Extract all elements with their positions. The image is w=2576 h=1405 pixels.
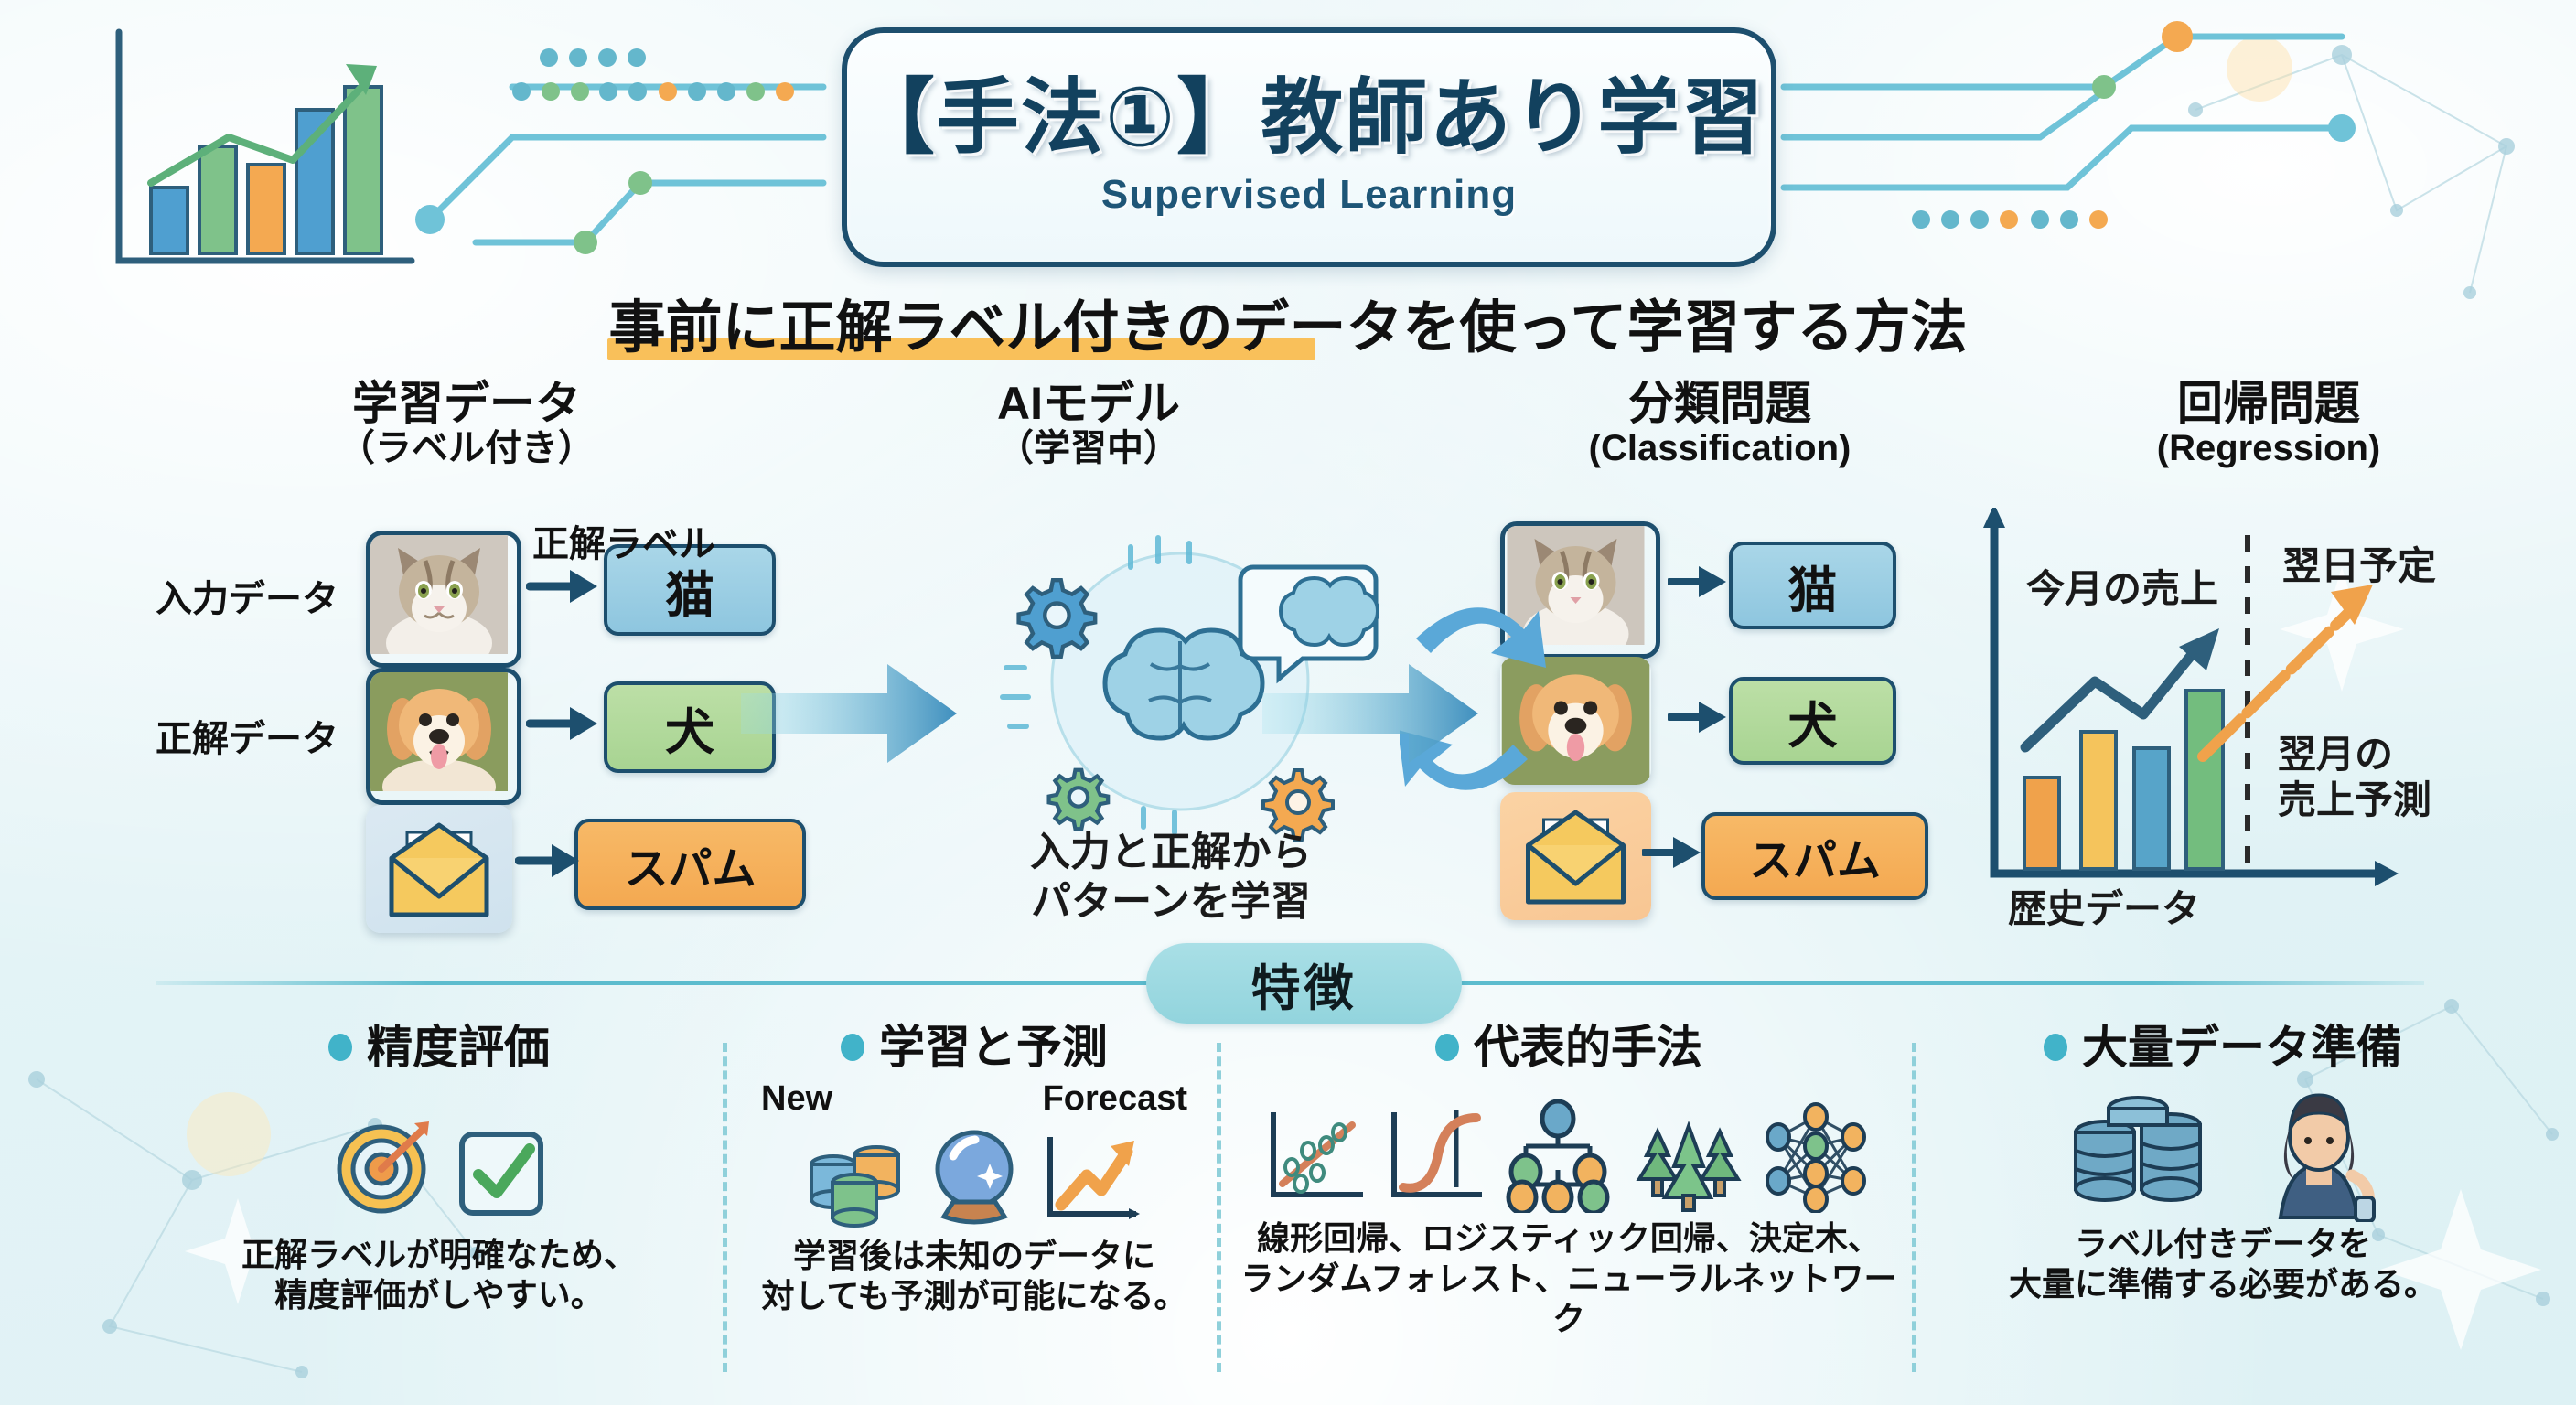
feature-divider-1 [723,1043,727,1372]
database-cylinders-icon [2065,1085,2229,1222]
feature-title: 代表的手法 [1474,1024,1702,1070]
training-label-spam: スパム [574,819,806,910]
regression-axis-label: 歴史データ [2008,878,2200,934]
column-title-line1: 分類問題 [1482,380,1958,428]
bullet-dot-icon [841,1034,864,1061]
arrow-model-to-output [1253,640,1491,787]
scatter-regression-icon [1261,1103,1370,1213]
feature-item-data-preparation: 大量データ準備 ラベル付きデータを 大量に準備する必要がある。 [1926,1024,2520,1304]
page-subtitle: Supervised Learning [1101,172,1517,218]
bar-1 [2024,778,2059,869]
tagline-text: 事前に正解ラベル付きのデータを使って学習する方法 [609,296,1968,359]
training-dog-photo [366,668,521,805]
gear-icon [1049,770,1109,830]
column-title-line2: (Classification) [1482,428,1958,468]
title-card: 【手法①】教師あり学習 Supervised Learning [842,27,1776,267]
bullet-dot-icon [328,1034,352,1061]
forecast-chart-icon [1037,1130,1147,1230]
arrow-dog-to-class [1668,692,1728,743]
bar-4 [2186,691,2223,869]
feature-icons [1926,1085,2520,1222]
feature-description: 線形回帰、ロジスティック回帰、決定木、 ランダムフォレスト、ニューラルネットワー… [1230,1218,1907,1339]
column-title-line2: （学習中） [851,428,1326,468]
bullet-dot-icon [2044,1034,2067,1061]
column-title-line1: 学習データ [229,380,704,428]
decision-tree-icon [1498,1099,1617,1213]
bar-2 [2081,732,2116,869]
training-cat-photo [366,531,521,668]
column-title-training-data: 学習データ （ラベル付き） [229,380,704,468]
feature-heading: 精度評価 [174,1024,704,1070]
model-caption-line2: パターンを学習 [915,877,1427,927]
random-forest-icon [1626,1099,1745,1213]
sublabel-new: New [761,1079,832,1119]
column-title-classification: 分類問題 (Classification) [1482,380,1958,468]
feature-icons [174,1085,704,1222]
arrow-mail-to-class [1642,827,1702,878]
feature-heading: 学習と予測 [741,1024,1207,1070]
regression-nextday-label: 翌日予定 [2282,535,2436,591]
feature-item-learning-prediction: 学習と予測 New Forecast 学習後は未知のデータに 対しても予測が可能… [741,1024,1207,1316]
arrow-dog-to-label [526,698,599,749]
correct-label-header: 正解ラベル [532,514,715,567]
column-title-line1: AIモデル [851,380,1326,428]
feature-description: ラベル付きデータを 大量に準備する必要がある。 [1926,1224,2520,1304]
feature-item-accuracy: 精度評価 正解ラベルが明確なため、 精度評価がしやすい。 [174,1024,704,1315]
feature-section-label: 特徴 [1251,948,1358,1020]
arrow-cat-to-class [1668,556,1728,607]
bullet-dot-icon [1435,1034,1459,1061]
column-title-line2: (Regression) [2031,428,2506,468]
arrow-mail-to-label [515,835,581,886]
regression-forecast-line2: 売上予測 [2278,778,2431,823]
classification-label-spam: スパム [1701,812,1928,900]
checkbox-check-icon [453,1123,552,1222]
arrow-cat-to-label [526,561,599,612]
header-bar-chart-icon [119,32,412,261]
feature-icons [1230,1085,1907,1213]
feature-description: 正解ラベルが明確なため、 精度評価がしやすい。 [174,1235,704,1315]
crystal-ball-icon [924,1125,1025,1230]
feature-title: 精度評価 [367,1024,550,1070]
column-title-line2: （ラベル付き） [229,428,704,468]
feature-heading: 代表的手法 [1230,1024,1907,1070]
column-title-ai-model: AIモデル （学習中） [851,380,1326,468]
sublabel-forecast: Forecast [1043,1079,1187,1119]
sigmoid-curve-icon [1379,1103,1489,1213]
database-stack-icon [801,1130,911,1230]
feature-item-methods: 代表的手法 [1230,1024,1907,1339]
bar-3 [2134,748,2169,869]
model-caption: 入力と正解から パターンを学習 [915,828,1427,926]
classification-label-cat: 猫 [1729,542,1896,629]
neural-network-icon [1755,1099,1878,1213]
feature-title: 大量データ準備 [2082,1024,2402,1070]
correct-data-label: 正解データ [156,709,338,762]
feature-title: 学習と予測 [879,1024,1108,1070]
regression-current-label: 今月の売上 [2026,558,2218,614]
regression-forecast-label: 翌月の 売上予測 [2278,732,2431,824]
tagline-wrapper: 事前に正解ラベル付きのデータを使って学習する方法 [0,295,2576,362]
feature-section-pill: 特徴 [1146,943,1462,1024]
target-icon [327,1112,436,1222]
classification-label-dog: 犬 [1729,677,1896,765]
feature-description: 学習後は未知のデータに 対しても予測が可能になる。 [741,1236,1207,1316]
model-caption-line1: 入力と正解から [915,828,1427,877]
training-envelope-icon [366,805,512,933]
column-title-line1: 回帰問題 [2031,380,2506,428]
feature-divider-3 [1912,1043,1916,1372]
feature-heading: 大量データ準備 [1926,1024,2520,1070]
feature-icons [741,1121,1207,1230]
tagline: 事前に正解ラベル付きのデータを使って学習する方法 [607,295,1970,362]
regression-forecast-line1: 翌月の [2278,732,2431,778]
input-data-label: 入力データ [156,569,338,622]
page-title: 【手法①】教師あり学習 [853,77,1766,159]
column-title-regression: 回帰問題 (Regression) [2031,380,2506,468]
feature-divider-2 [1217,1043,1221,1372]
analyst-person-icon [2253,1080,2381,1222]
gear-icon [1019,580,1096,657]
